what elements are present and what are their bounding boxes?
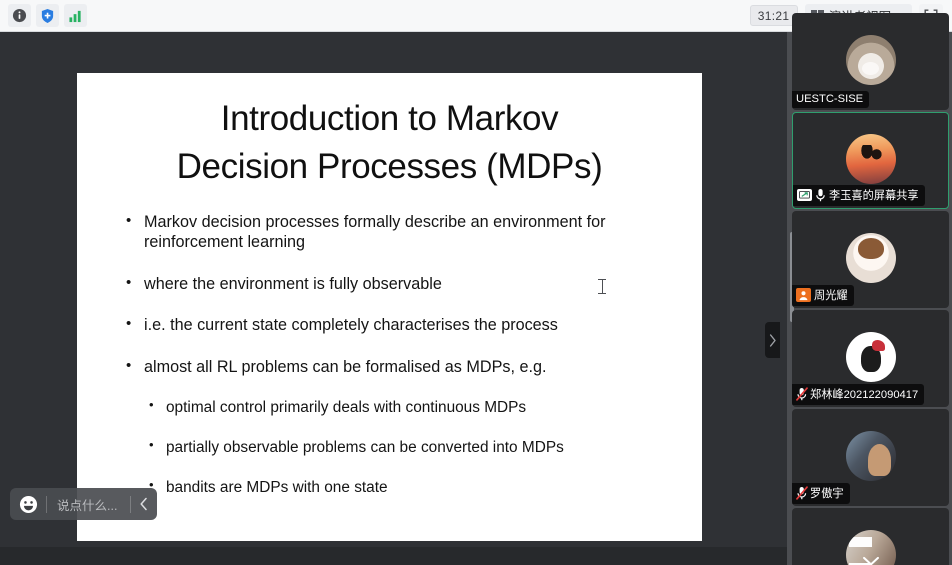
- smiley-icon[interactable]: [10, 488, 46, 520]
- info-icon[interactable]: [8, 4, 31, 27]
- participant-name: 周光耀: [814, 287, 848, 303]
- chevron-down-icon[interactable]: [860, 550, 882, 565]
- host-icon: [796, 288, 811, 302]
- participant-panel: UESTC-SISE: [787, 32, 952, 565]
- participant-name-tag: 李玉喜的屏幕共享: [793, 185, 925, 206]
- slide-title: Introduction to Markov Decision Processe…: [77, 95, 702, 192]
- panel-collapse-tab[interactable]: [765, 322, 780, 358]
- avatar: [846, 134, 896, 184]
- slide-title-line-1: Introduction to Markov: [77, 95, 702, 143]
- bullet-item: almost all RL problems can be formalised…: [125, 357, 680, 378]
- participant-name-tag: UESTC-SISE: [792, 91, 869, 108]
- screen-share-icon: [797, 189, 812, 201]
- participant-tile-list: UESTC-SISE: [792, 13, 952, 565]
- participant-name-tag: 郑林峰202122090417: [792, 384, 924, 405]
- avatar: [846, 332, 896, 382]
- slide-bullet-list: Markov decision processes formally descr…: [77, 212, 702, 499]
- slide-title-line-2: Decision Processes (MDPs): [77, 143, 702, 191]
- bullet-item: i.e. the current state completely charac…: [125, 315, 680, 336]
- sub-bullet-item: partially observable problems can be con…: [125, 438, 680, 458]
- meeting-timer: 31:21: [750, 5, 798, 26]
- avatar: [846, 431, 896, 481]
- participant-tile[interactable]: [792, 508, 949, 565]
- mic-muted-icon: [796, 387, 807, 401]
- toolbar-left-icons: [0, 4, 87, 27]
- participant-name: UESTC-SISE: [796, 93, 863, 105]
- sub-bullet-item: optimal control primarily deals with con…: [125, 398, 680, 418]
- participant-name: 罗傲宇: [810, 485, 844, 501]
- participant-name: 郑林峰202122090417: [810, 386, 918, 402]
- zoom-meeting-window: 31:21 演讲者视图 ▼ Int: [0, 0, 952, 565]
- mic-muted-icon: [796, 486, 807, 500]
- participant-tile[interactable]: 郑林峰202122090417: [792, 310, 949, 407]
- participant-name: 李玉喜的屏幕共享: [829, 187, 919, 203]
- stage-bottom-strip: [0, 547, 787, 565]
- participant-tile[interactable]: UESTC-SISE: [792, 13, 949, 110]
- participant-tile[interactable]: 罗傲宇: [792, 409, 949, 506]
- shield-plus-icon[interactable]: [36, 4, 59, 27]
- participant-tile[interactable]: 周光耀: [792, 211, 949, 308]
- chat-input-bar: 说点什么...: [10, 488, 157, 520]
- chat-input[interactable]: 说点什么...: [47, 495, 130, 514]
- bullet-item: where the environment is fully observabl…: [125, 274, 680, 295]
- bullet-item: Markov decision processes formally descr…: [125, 212, 680, 253]
- mic-on-icon: [815, 188, 826, 202]
- shared-screen-stage: Introduction to Markov Decision Processe…: [0, 32, 787, 565]
- presentation-slide: Introduction to Markov Decision Processe…: [77, 73, 702, 541]
- avatar: [846, 35, 896, 85]
- participant-name-tag: 周光耀: [792, 285, 854, 306]
- signal-bars-icon[interactable]: [64, 4, 87, 27]
- participant-name-tag: 罗傲宇: [792, 483, 850, 504]
- sub-bullet-item: bandits are MDPs with one state: [125, 478, 680, 498]
- participant-tile-active[interactable]: 李玉喜的屏幕共享: [792, 112, 949, 209]
- chevron-left-icon[interactable]: [131, 488, 157, 520]
- avatar: [846, 233, 896, 283]
